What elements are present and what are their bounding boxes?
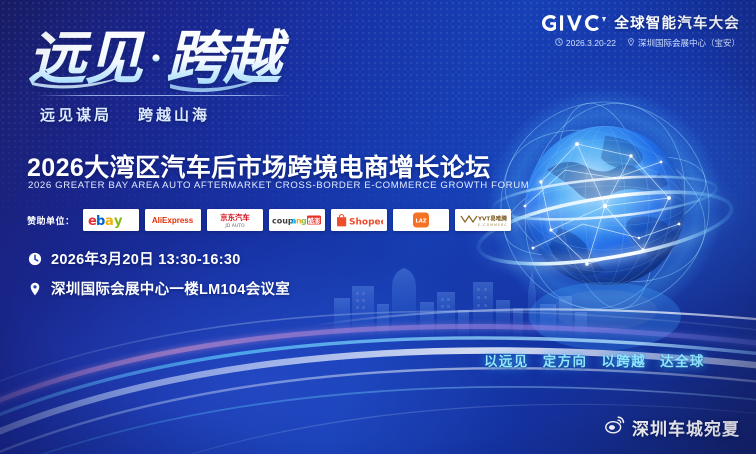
svg-text:京东汽车: 京东汽车 <box>220 213 250 222</box>
location-icon <box>627 38 635 48</box>
event-time-row: 2026年3月20日 13:30-16:30 <box>28 248 290 269</box>
slogan-part-1: 以远见 <box>484 350 529 370</box>
hero-subtitle-right: 跨越山海 <box>138 104 210 125</box>
sponsor-logo-shopee[interactable]: Shopee <box>331 209 387 231</box>
svg-text:酷澎: 酷澎 <box>307 216 320 225</box>
weibo-icon <box>605 416 625 439</box>
location-pin-icon <box>28 282 42 296</box>
sponsor-logo-coupang[interactable]: coup a n g 酷澎 <box>269 209 325 231</box>
sponsor-logo-yvt[interactable]: YVT易唯腾 E-COMMERCE <box>455 209 511 231</box>
conference-title: 全球智能汽车大会 <box>614 12 740 33</box>
event-place-text: 深圳国际会展中心一楼LM104会议室 <box>51 278 290 299</box>
svg-text:YVT易唯腾: YVT易唯腾 <box>477 214 507 222</box>
conference-header: 全球智能汽车大会 2026.3.20-22 深圳国际会展中心（宝安） <box>541 12 740 49</box>
sponsor-row: 赞助单位： e b a y AliExpress 京东汽车 JD AUTO co… <box>27 209 511 231</box>
slogan-part-4: 达全球 <box>660 350 705 370</box>
svg-text:a: a <box>105 214 114 228</box>
city-skyline-silhouette <box>330 258 590 340</box>
hero-subtitle-left: 远见谋局 <box>40 104 112 125</box>
weibo-watermark: 深圳车城宛夏 <box>605 415 740 440</box>
svg-text:b: b <box>96 214 105 228</box>
event-time-text: 2026年3月20日 13:30-16:30 <box>51 248 241 269</box>
event-info: 2026年3月20日 13:30-16:30 深圳国际会展中心一楼LM104会议… <box>28 248 290 308</box>
svg-text:E-COMMERCE: E-COMMERCE <box>478 223 507 227</box>
calligraphy-divider <box>36 95 291 96</box>
conference-date-text: 2026.3.20-22 <box>566 38 616 48</box>
slogan-part-2: 定方向 <box>543 350 588 370</box>
slogan-part-3: 以跨越 <box>601 350 646 370</box>
sponsor-logo-aliexpress[interactable]: AliExpress <box>145 209 201 231</box>
conference-date: 2026.3.20-22 <box>555 38 616 48</box>
clock-icon <box>555 38 563 48</box>
event-place-row: 深圳国际会展中心一楼LM104会议室 <box>28 278 290 299</box>
clock-icon <box>28 252 42 266</box>
conference-venue: 深圳国际会展中心（宝安） <box>627 37 740 49</box>
sponsor-logo-ebay[interactable]: e b a y <box>83 209 139 231</box>
svg-text:g: g <box>301 217 307 226</box>
event-poster: 全球智能汽车大会 2026.3.20-22 深圳国际会展中心（宝安） <box>0 0 756 454</box>
svg-text:远见: 远见 <box>28 24 146 92</box>
givc-logo-icon <box>541 14 607 32</box>
sponsor-logo-jdauto[interactable]: 京东汽车 JD AUTO <box>207 209 263 231</box>
sponsor-label: 赞助单位： <box>27 214 75 227</box>
page-subtitle-english: 2026 GREATER BAY AREA AUTO AFTERMARKET C… <box>28 180 529 191</box>
aliexpress-logo-icon: AliExpress <box>152 216 193 225</box>
hero-calligraphy: 远见 跨越 <box>28 22 328 92</box>
conference-venue-text: 深圳国际会展中心（宝安） <box>638 37 740 49</box>
svg-text:JD AUTO: JD AUTO <box>224 223 245 229</box>
svg-text:y: y <box>114 214 123 228</box>
sponsor-logo-lazada[interactable]: LAZ <box>393 209 449 231</box>
svg-text:跨越: 跨越 <box>166 24 290 92</box>
hero-subtitle: 远见谋局 跨越山海 <box>40 104 300 125</box>
svg-text:Shopee: Shopee <box>349 217 383 227</box>
weibo-watermark-text: 深圳车城宛夏 <box>632 415 740 440</box>
page-title: 2026大湾区汽车后市场跨境电商增长论坛 <box>27 148 491 184</box>
svg-text:LAZ: LAZ <box>415 219 426 225</box>
bottom-slogan: 以远见 定方向 以跨越 达全球 <box>484 350 705 370</box>
